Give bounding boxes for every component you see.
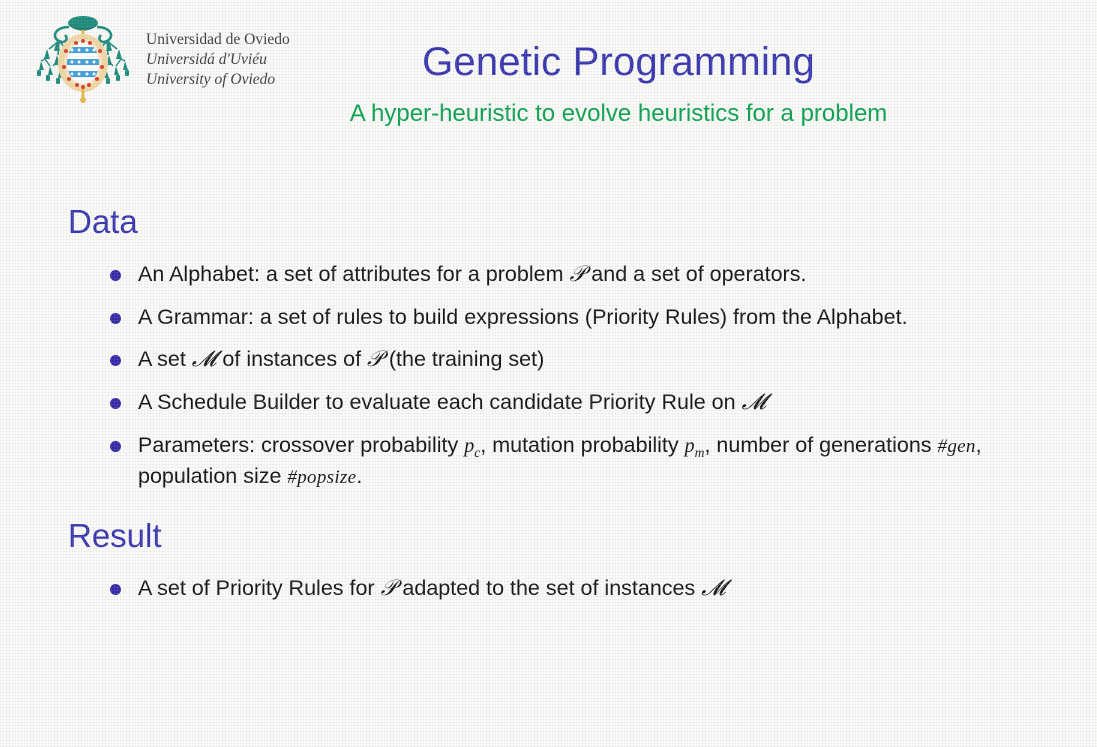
math-symbol-m: 𝓜 <box>701 576 726 601</box>
bullet-item: An Alphabet: a set of attributes for a p… <box>104 260 1044 289</box>
slide-header: Universidad de Oviedo Universidá d'Uviéu… <box>0 0 1097 145</box>
math-var-pc: pc <box>464 435 480 457</box>
bullet-item: Parameters: crossover probability pc, mu… <box>104 431 1044 490</box>
bullet-item: A Grammar: a set of rules to build expre… <box>104 303 1044 331</box>
math-symbol-p: 𝒫 <box>367 347 383 372</box>
section-heading-result: Result <box>68 517 162 555</box>
math-symbol-p: 𝒫 <box>381 576 397 601</box>
math-word-hash-popsize: #popsize <box>287 467 356 488</box>
math-symbol-p: 𝒫 <box>569 262 585 287</box>
math-symbol-m: 𝓜 <box>192 347 217 372</box>
slide-subtitle: A hyper-heuristic to evolve heuristics f… <box>0 100 1097 128</box>
section-heading-data: Data <box>68 203 138 241</box>
bullet-item: A set of Priority Rules for 𝒫 adapted to… <box>104 574 1044 603</box>
bullet-item: A set 𝓜 of instances of 𝒫 (the training … <box>104 345 1044 374</box>
result-bullet-list: A set of Priority Rules for 𝒫 adapted to… <box>104 574 1044 617</box>
math-symbol-m: 𝓜 <box>742 390 767 415</box>
slide-title: Genetic Programming <box>0 40 1097 85</box>
bullet-item: A Schedule Builder to evaluate each cand… <box>104 388 1044 417</box>
data-bullet-list: An Alphabet: a set of attributes for a p… <box>104 260 1044 505</box>
math-word-hash-gen: #gen <box>938 436 976 457</box>
math-var-pm: pm <box>685 435 705 457</box>
